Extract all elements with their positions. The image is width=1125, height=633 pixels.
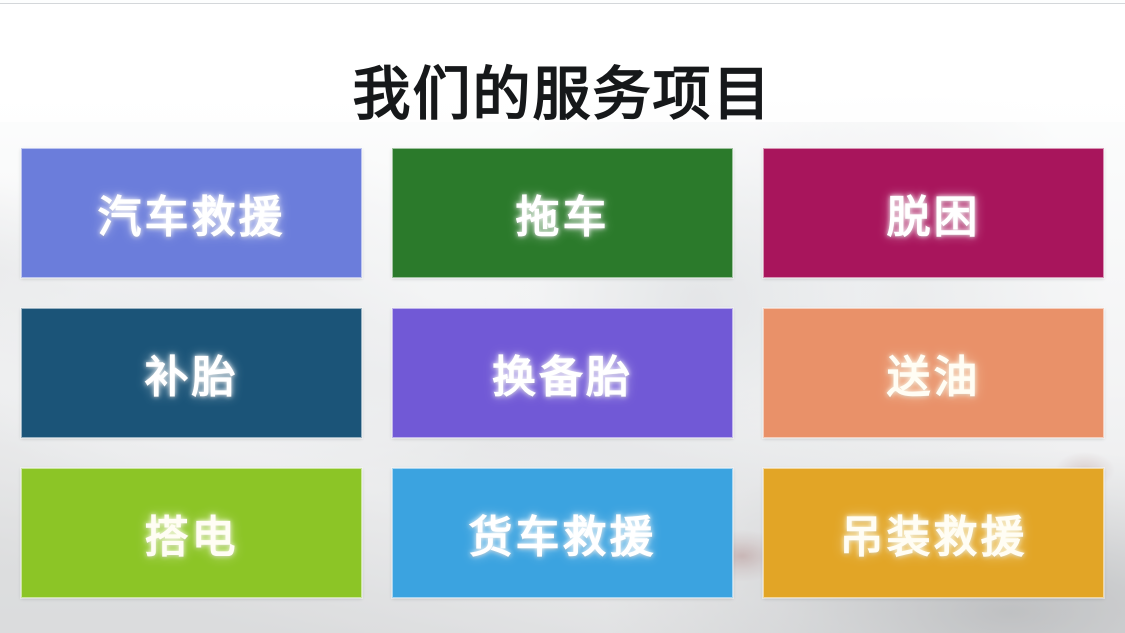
service-tile-label: 拖车	[516, 181, 610, 245]
service-tile-car-rescue[interactable]: 汽车救援	[21, 148, 362, 278]
service-tile-label: 汽车救援	[98, 181, 286, 245]
service-tile-label: 搭电	[145, 501, 239, 565]
service-items-poster: 我们的服务项目 汽车救援拖车脱困补胎换备胎送油搭电货车救援吊装救援	[0, 0, 1125, 633]
service-tile-grid: 汽车救援拖车脱困补胎换备胎送油搭电货车救援吊装救援	[21, 148, 1104, 598]
service-tile-jump-start[interactable]: 搭电	[21, 468, 362, 598]
page-title: 我们的服务项目	[0, 63, 1125, 128]
service-tile-label: 送油	[887, 341, 981, 405]
service-tile-truck-rescue[interactable]: 货车救援	[392, 468, 733, 598]
service-tile-label: 换备胎	[492, 341, 633, 405]
service-tile-tire-repair[interactable]: 补胎	[21, 308, 362, 438]
service-tile-hoisting-rescue[interactable]: 吊装救援	[763, 468, 1104, 598]
service-tile-tow-truck[interactable]: 拖车	[392, 148, 733, 278]
service-tile-label: 吊装救援	[840, 501, 1028, 565]
service-tile-label: 脱困	[887, 181, 981, 245]
service-tile-label: 货车救援	[469, 501, 657, 565]
service-tile-extrication[interactable]: 脱困	[763, 148, 1104, 278]
service-tile-label: 补胎	[145, 341, 239, 405]
service-tile-spare-tire-swap[interactable]: 换备胎	[392, 308, 733, 438]
service-tile-fuel-delivery[interactable]: 送油	[763, 308, 1104, 438]
